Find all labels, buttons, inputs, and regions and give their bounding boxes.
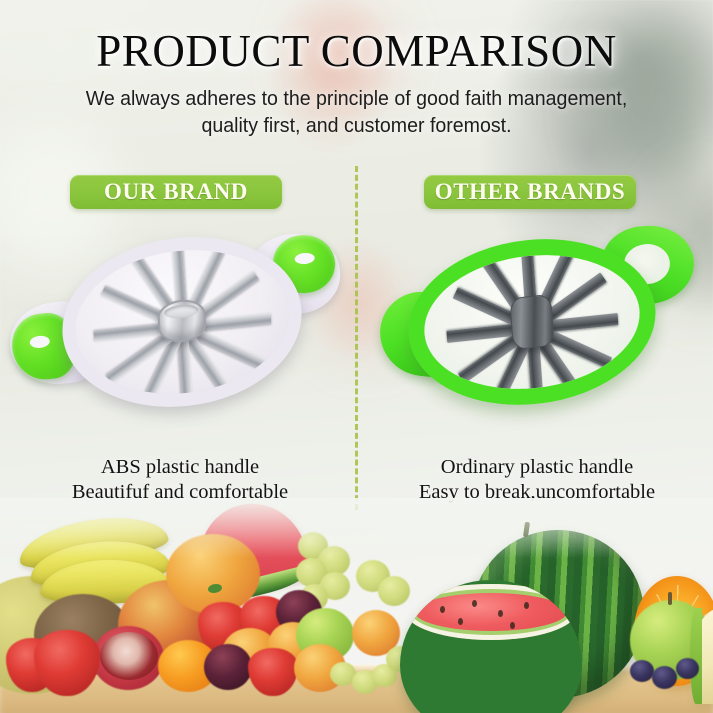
fruit-watermelon-half xyxy=(400,580,582,713)
product-image-our-brand xyxy=(10,228,310,418)
watermelon-seed xyxy=(524,602,529,609)
product-image-other-brands xyxy=(380,226,692,418)
watermelon-seed xyxy=(510,622,515,629)
watermelon-seed xyxy=(440,606,445,613)
fruit-band-top-haze xyxy=(0,498,713,558)
subtitle-line-2: quality first, and customer foremost. xyxy=(31,112,681,139)
fruit-apple-stem xyxy=(668,592,672,605)
page-subtitle: We always adheres to the principle of go… xyxy=(31,85,681,139)
fruit-blueberry xyxy=(630,660,654,682)
column-divider xyxy=(355,166,358,510)
fruit-arrangement xyxy=(0,498,713,713)
watermelon-seed xyxy=(498,610,503,617)
watermelon-seed xyxy=(458,618,463,625)
subtitle-line-1: We always adheres to the principle of go… xyxy=(86,87,628,110)
badge-our-brand: OUR BRAND xyxy=(70,175,282,209)
fruit-grapes-green xyxy=(378,576,410,606)
badge-our-brand-label: OUR BRAND xyxy=(104,179,248,205)
fruit-plum-dark xyxy=(204,644,252,690)
right-product-center-hub xyxy=(509,294,554,350)
fruit-apple-wedge xyxy=(690,608,713,704)
page-title: PRODUCT COMPARISON xyxy=(0,26,713,76)
fruit-watermelon-flesh xyxy=(406,584,576,640)
caption-our-brand-line-1: ABS plastic handle xyxy=(101,456,259,478)
badge-other-brands-label: OTHER BRANDS xyxy=(435,179,626,205)
left-product-ring xyxy=(57,226,308,419)
badge-other-brands: OTHER BRANDS xyxy=(424,175,636,209)
fruit-pomegranate-seeds xyxy=(100,632,158,680)
product-comparison-infographic: PRODUCT COMPARISON We always adheres to … xyxy=(0,0,713,713)
watermelon-seed xyxy=(472,600,477,607)
right-product-ring xyxy=(403,227,661,417)
caption-other-brands-line-1: Ordinary plastic handle xyxy=(441,456,633,478)
fruit-blueberry xyxy=(676,658,699,679)
fruit-blueberry xyxy=(652,666,677,689)
